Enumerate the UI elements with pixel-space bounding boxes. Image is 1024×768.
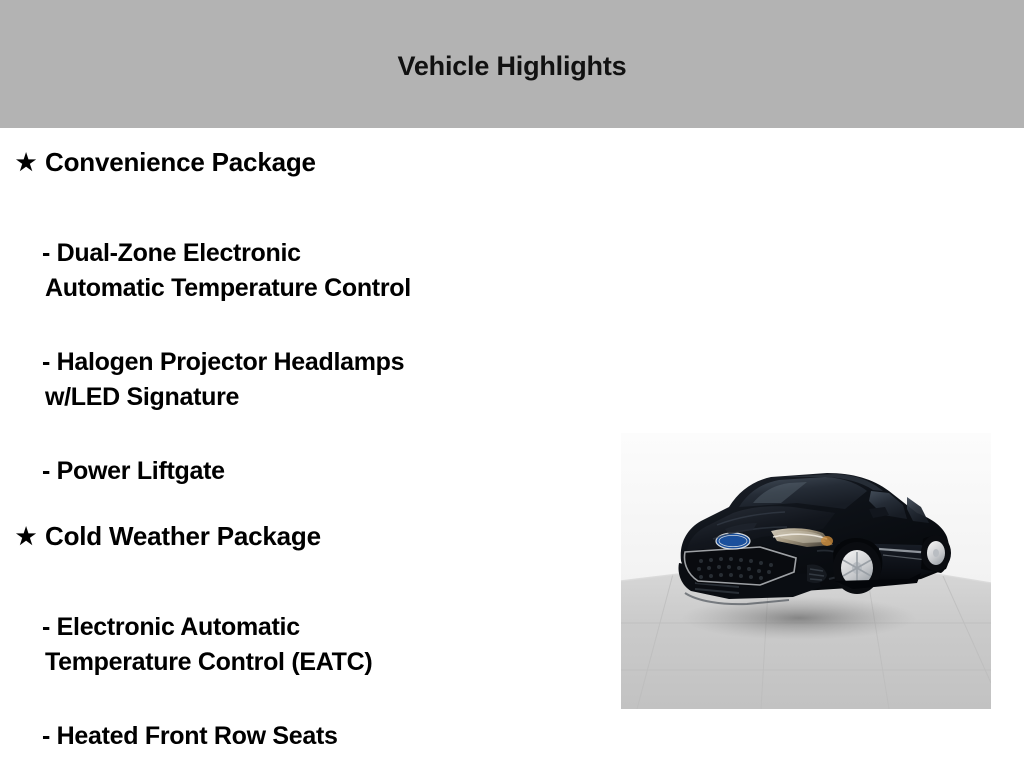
feature-line-1: - Power Liftgate (42, 454, 612, 489)
content-area: ★ Convenience Package - Dual-Zone Electr… (0, 128, 1024, 768)
package-name-label: Convenience Package (45, 147, 316, 177)
package-group-cold-weather: ★ Cold Weather Package - Electronic Auto… (0, 516, 620, 556)
studio-floor (621, 574, 991, 709)
feature-line-2: Temperature Control (EATC) (45, 645, 612, 680)
star-icon: ★ (14, 516, 38, 556)
rear-wheel (921, 535, 951, 571)
feature-line-1: - Electronic Automatic (42, 610, 612, 645)
feature-item: - Halogen Projector Headlamps w/LED Sign… (42, 345, 612, 415)
feature-line-1: - Halogen Projector Headlamps (42, 345, 612, 380)
feature-item: - Heated Front Row Seats (42, 719, 612, 754)
star-icon: ★ (14, 142, 38, 182)
feature-line-1: - Heated Front Row Seats (42, 719, 612, 754)
feature-item: - Power Liftgate (42, 454, 612, 489)
feature-item: - Dual-Zone Electronic Automatic Tempera… (42, 236, 612, 306)
package-heading-cold-weather: ★ Cold Weather Package (0, 516, 620, 556)
vehicle-photo (621, 433, 991, 709)
feature-line-2: w/LED Signature (45, 380, 612, 415)
header-bar: Vehicle Highlights (0, 0, 1024, 128)
feature-item: - Electronic Automatic Temperature Contr… (42, 610, 612, 680)
feature-line-2: Automatic Temperature Control (45, 271, 612, 306)
package-heading-convenience: ★ Convenience Package (0, 142, 620, 182)
feature-line-1: - Dual-Zone Electronic (42, 236, 612, 271)
package-name-label: Cold Weather Package (45, 521, 321, 551)
package-group-convenience: ★ Convenience Package - Dual-Zone Electr… (0, 142, 620, 182)
page-title: Vehicle Highlights (0, 50, 1024, 82)
